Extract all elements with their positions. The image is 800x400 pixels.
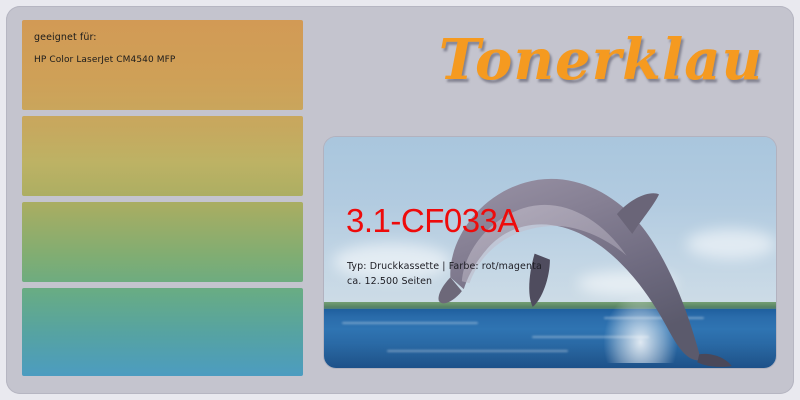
product-caption: Typ: Druckkassette | Farbe: rot/magenta … (347, 259, 677, 289)
color-swatch-stack: geeignet für: HP Color LaserJet CM4540 M… (22, 20, 303, 376)
product-yield-line: ca. 12.500 Seiten (347, 274, 677, 289)
page-frame: geeignet für: HP Color LaserJet CM4540 M… (6, 6, 794, 394)
swatch-green (22, 202, 303, 282)
compatibility-panel: geeignet für: HP Color LaserJet CM4540 M… (22, 20, 303, 67)
product-details-line: Typ: Druckkassette | Farbe: rot/magenta (347, 259, 677, 274)
swatch-blue (22, 288, 303, 376)
swatch-orange: geeignet für: HP Color LaserJet CM4540 M… (22, 20, 303, 110)
brand-title: Tonerklau (426, 22, 776, 98)
compatibility-label: geeignet für: (34, 31, 303, 45)
printer-model-text: HP Color LaserJet CM4540 MFP (34, 53, 303, 67)
swatch-blue-gradient (22, 288, 303, 376)
page-root: geeignet für: HP Color LaserJet CM4540 M… (0, 0, 800, 400)
swatch-yellow-gradient (22, 116, 303, 196)
swatch-green-gradient (22, 202, 303, 282)
swatch-yellow (22, 116, 303, 196)
product-photo: 3.1-CF033A Typ: Druckkassette | Farbe: r… (324, 137, 776, 368)
product-sku: 3.1-CF033A (346, 202, 519, 240)
